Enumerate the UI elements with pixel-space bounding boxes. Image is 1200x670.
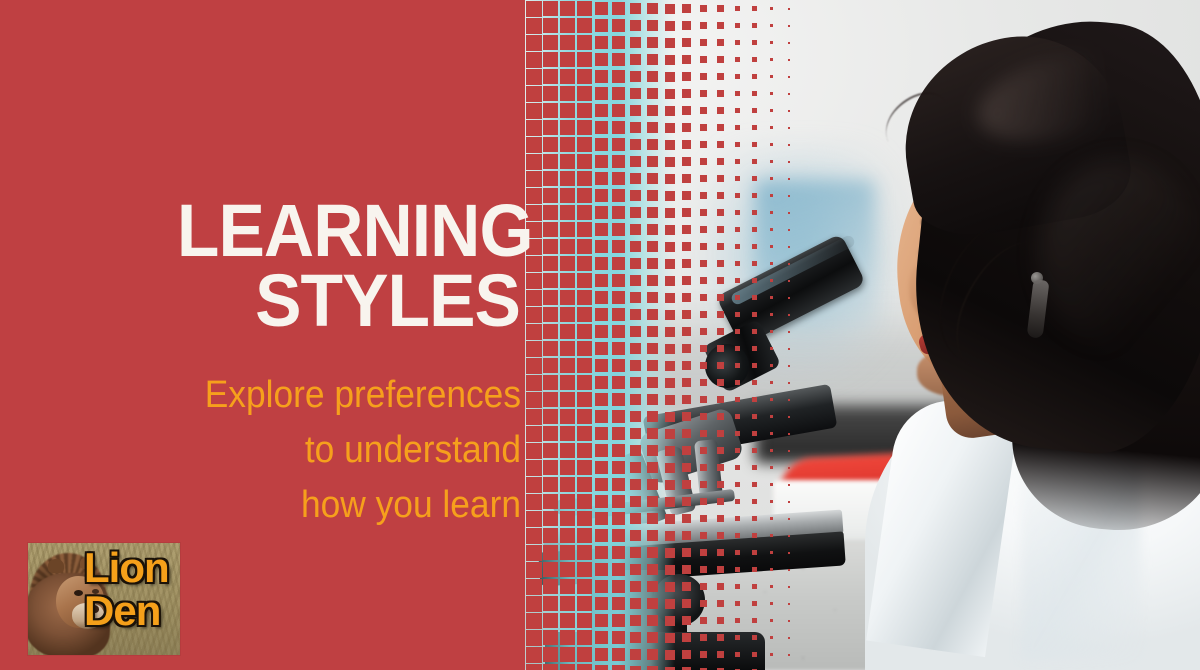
logo-word-den: Den (84, 590, 180, 633)
logo-wordmark: Lion Den (84, 547, 180, 651)
page-title: LEARNING STYLES (31, 196, 520, 335)
subtitle-line-1: Explore preferences (36, 368, 521, 423)
headline-line-2: STYLES (31, 266, 520, 336)
learning-styles-banner: LEARNING STYLES Explore preferences to u… (0, 0, 1200, 670)
lion-den-logo[interactable]: Lion Den (28, 543, 180, 655)
woman-scientist (825, 0, 1200, 670)
subtitle: Explore preferences to understand how yo… (36, 368, 521, 533)
microscope-base (545, 632, 765, 670)
logo-word-lion: Lion (84, 547, 180, 590)
headline-line-1: LEARNING (31, 196, 520, 266)
lion-ear-left-icon (48, 559, 64, 573)
lab-photo (525, 0, 1200, 670)
lion-eye-left (74, 590, 83, 596)
microscope-stage-knob (553, 498, 587, 516)
microscope-focus-knob (653, 574, 705, 626)
subtitle-line-3: how you learn (36, 478, 521, 533)
subtitle-line-2: to understand (36, 423, 521, 478)
